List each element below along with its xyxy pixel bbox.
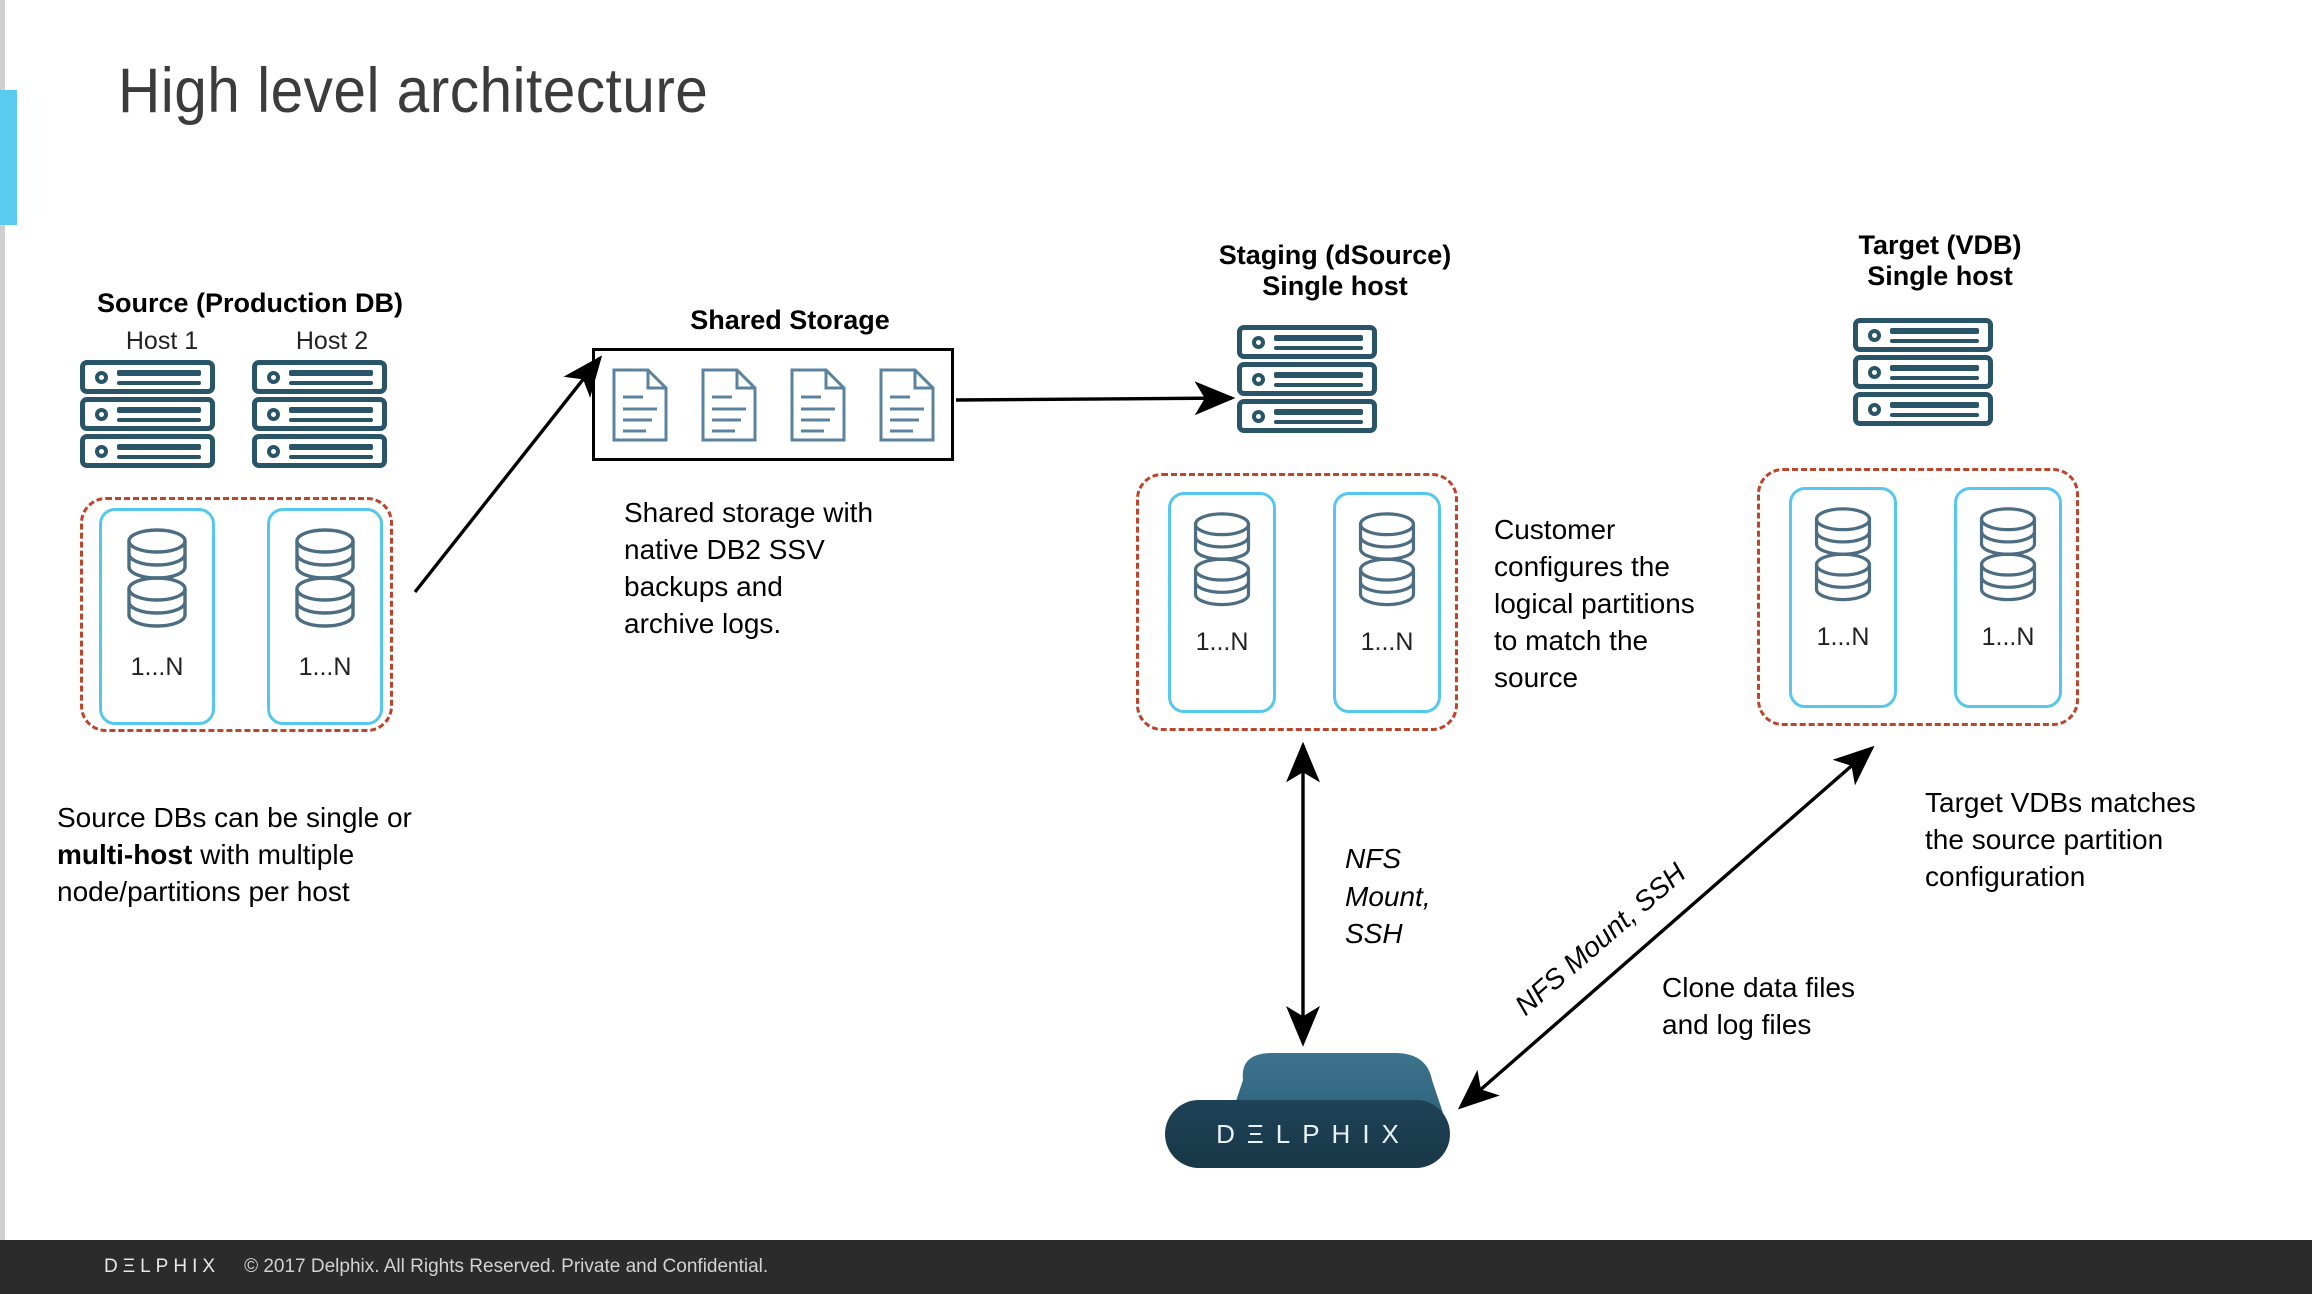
storage-note-line-2: native DB2 SSV	[624, 534, 825, 565]
server-led-icon	[95, 408, 108, 421]
clone-files-label: Clone data files and log files	[1662, 970, 1962, 1044]
arrow-storage-to-staging	[956, 398, 1232, 400]
source-host1-label: Host 1	[92, 327, 232, 356]
source-note-bold: multi-host	[57, 839, 192, 870]
staging-note-line-3: logical partitions	[1494, 588, 1695, 619]
server-led-icon	[267, 371, 280, 384]
source-note-line2: with multiple	[192, 839, 354, 870]
database-icon	[1186, 511, 1258, 615]
database-icon	[1807, 506, 1879, 610]
server-unit	[252, 434, 387, 468]
source-host1-server-stack	[80, 360, 215, 468]
footer-logo-letter-e: Ξ	[123, 1256, 140, 1278]
footer-logo-letter-h: H	[173, 1256, 192, 1278]
document-icon	[879, 368, 935, 442]
source-host2-server-stack	[252, 360, 387, 468]
server-led-icon	[1868, 366, 1881, 379]
target-group-title: Target (VDB) Single host	[1730, 230, 2150, 293]
footer-bar: D Ξ L P H I X © 2017 Delphix. All Rights…	[0, 1240, 2312, 1294]
storage-note-line-1: Shared storage with	[624, 497, 873, 528]
staging-group-title: Staging (dSource) Single host	[1105, 240, 1565, 303]
server-lines-icon	[117, 444, 201, 459]
footer-logo-letter-i: I	[192, 1256, 202, 1278]
target-note-line-3: configuration	[1925, 861, 2085, 892]
delphix-engine-logo: DΞLPHIX	[1165, 1100, 1450, 1168]
target-note: Target VDBs matches the source partition…	[1925, 785, 2255, 896]
database-icon	[287, 527, 363, 637]
footer-copyright: © 2017 Delphix. All Rights Reserved. Pri…	[244, 1256, 768, 1278]
document-icon	[790, 368, 846, 442]
server-unit	[1853, 392, 1993, 426]
source-note-line1: Source DBs can be single or	[57, 802, 412, 833]
server-unit	[1853, 318, 1993, 352]
server-unit	[80, 397, 215, 431]
server-unit	[252, 360, 387, 394]
partition-count-label: 1...N	[1196, 628, 1249, 657]
staging-note-line-5: source	[1494, 662, 1578, 693]
server-led-icon	[1868, 403, 1881, 416]
nfs-label-line-1: NFS	[1345, 843, 1401, 874]
clone-label-line-2: and log files	[1662, 1009, 1811, 1040]
partition-count-label: 1...N	[1817, 623, 1870, 652]
nfs-mount-ssh-label: NFS Mount, SSH	[1345, 840, 1505, 953]
clone-label-line-1: Clone data files	[1662, 972, 1855, 1003]
database-icon	[1972, 506, 2044, 610]
storage-note-line-3: backups and	[624, 571, 783, 602]
server-led-icon	[95, 371, 108, 384]
target-note-line-1: Target VDBs matches	[1925, 787, 2196, 818]
server-lines-icon	[1274, 335, 1363, 350]
staging-note: Customer configures the logical partitio…	[1494, 512, 1744, 697]
server-led-icon	[95, 445, 108, 458]
server-unit	[1237, 399, 1377, 433]
shared-storage-box	[592, 348, 954, 461]
server-lines-icon	[289, 444, 373, 459]
partition-count-label: 1...N	[299, 653, 352, 682]
target-server-stack	[1853, 318, 1993, 426]
server-lines-icon	[289, 370, 373, 385]
nfs-label-line-2: Mount,	[1345, 881, 1431, 912]
server-unit	[80, 360, 215, 394]
staging-server-stack	[1237, 325, 1377, 433]
server-unit	[1853, 355, 1993, 389]
staging-note-line-4: to match the	[1494, 625, 1648, 656]
footer-logo-letter-l: L	[140, 1256, 156, 1278]
server-unit	[1237, 325, 1377, 359]
server-unit	[252, 397, 387, 431]
target-title-line1: Target (VDB)	[1858, 230, 2021, 260]
document-icon	[701, 368, 757, 442]
nfs-label-line-3: SSH	[1345, 918, 1403, 949]
source-group-title: Source (Production DB)	[40, 288, 460, 319]
storage-group-title: Shared Storage	[590, 305, 990, 336]
delphix-engine-logo-text: DΞLPHIX	[1204, 1119, 1411, 1150]
staging-note-line-2: configures the	[1494, 551, 1670, 582]
document-icon	[612, 368, 668, 442]
page-title: High level architecture	[118, 58, 708, 124]
server-unit	[1237, 362, 1377, 396]
server-led-icon	[267, 445, 280, 458]
storage-note-line-4: archive logs.	[624, 608, 781, 639]
footer-logo-letter-d: D	[104, 1256, 123, 1278]
target-partition-2: 1...N	[1954, 487, 2062, 708]
server-led-icon	[1252, 410, 1265, 423]
server-led-icon	[1252, 336, 1265, 349]
arrow-source-to-storage	[415, 358, 600, 592]
staging-partition-2: 1...N	[1333, 492, 1441, 713]
storage-note: Shared storage with native DB2 SSV backu…	[624, 495, 954, 643]
server-led-icon	[1252, 373, 1265, 386]
partition-count-label: 1...N	[131, 653, 184, 682]
server-lines-icon	[1890, 365, 1979, 380]
arrow-engine-to-target	[1463, 748, 1872, 1105]
footer-logo-letter-x: X	[202, 1256, 220, 1278]
server-led-icon	[267, 408, 280, 421]
server-lines-icon	[117, 370, 201, 385]
server-lines-icon	[289, 407, 373, 422]
source-host2-label: Host 2	[262, 327, 402, 356]
server-lines-icon	[117, 407, 201, 422]
database-icon	[1351, 511, 1423, 615]
slide-canvas: High level architecture Source (Producti…	[0, 0, 2312, 1294]
database-icon	[119, 527, 195, 637]
server-led-icon	[1868, 329, 1881, 342]
staging-title-line2: Single host	[1262, 271, 1408, 301]
partition-count-label: 1...N	[1361, 628, 1414, 657]
source-partition-1: 1...N	[99, 508, 215, 725]
partition-count-label: 1...N	[1982, 623, 2035, 652]
staging-partition-1: 1...N	[1168, 492, 1276, 713]
source-note-line3: node/partitions per host	[57, 876, 350, 907]
target-partition-1: 1...N	[1789, 487, 1897, 708]
server-lines-icon	[1274, 372, 1363, 387]
target-note-line-2: the source partition	[1925, 824, 2163, 855]
target-title-line2: Single host	[1867, 261, 2013, 291]
staging-title-line1: Staging (dSource)	[1219, 240, 1452, 270]
accent-bar	[0, 90, 17, 225]
server-lines-icon	[1890, 328, 1979, 343]
footer-logo: D Ξ L P H I X	[104, 1256, 220, 1278]
server-lines-icon	[1274, 409, 1363, 424]
footer-logo-letter-p: P	[156, 1256, 174, 1278]
server-lines-icon	[1890, 402, 1979, 417]
server-unit	[80, 434, 215, 468]
staging-note-line-1: Customer	[1494, 514, 1615, 545]
source-partition-2: 1...N	[267, 508, 383, 725]
source-note: Source DBs can be single or multi-host w…	[57, 800, 527, 911]
